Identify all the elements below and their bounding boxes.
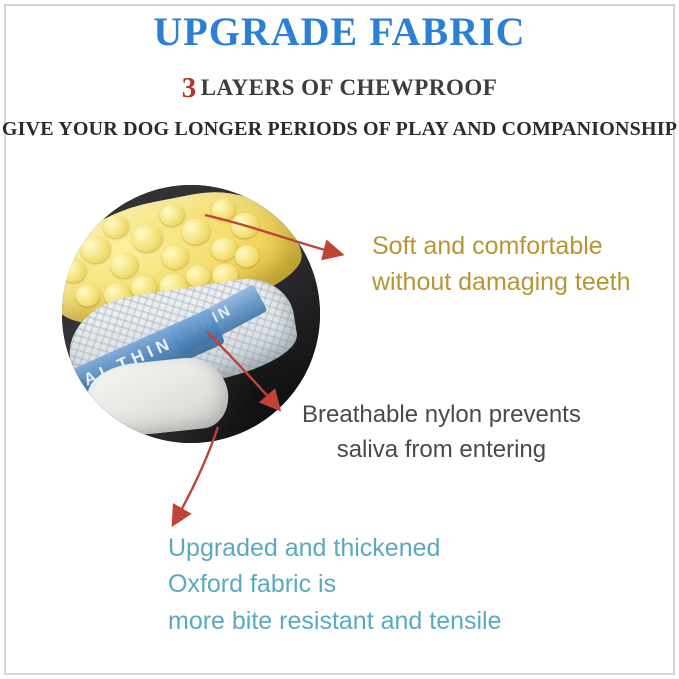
callout-oxford-fabric: Upgraded and thickened Oxford fabric is … — [168, 530, 502, 639]
fabric-photo: I THIN AI THIN — [62, 185, 320, 443]
callout-oxford-line1: Upgraded and thickened — [168, 530, 502, 566]
callout-soft-line2: without damaging teeth — [372, 264, 631, 300]
page-title: UPGRADE FABRIC — [0, 8, 679, 55]
tagline: GIVE YOUR DOG LONGER PERIODS OF PLAY AND… — [0, 118, 679, 141]
subtitle: 3LAYERS OF CHEWPROOF — [0, 72, 679, 105]
layer-count: 3 — [182, 72, 197, 104]
callout-oxford-line3: more bite resistant and tensile — [168, 603, 502, 639]
infographic-page: UPGRADE FABRIC 3LAYERS OF CHEWPROOF GIVE… — [0, 0, 679, 679]
subtitle-text: LAYERS OF CHEWPROOF — [201, 75, 498, 100]
callout-soft-comfortable: Soft and comfortable without damaging te… — [372, 228, 631, 301]
callout-nylon-line2: saliva from entering — [302, 433, 581, 468]
callout-nylon-line1: Breathable nylon prevents — [302, 398, 581, 433]
callout-oxford-line2: Oxford fabric is — [168, 566, 502, 602]
callout-breathable-nylon: Breathable nylon prevents saliva from en… — [302, 398, 581, 468]
callout-soft-line1: Soft and comfortable — [372, 228, 631, 264]
